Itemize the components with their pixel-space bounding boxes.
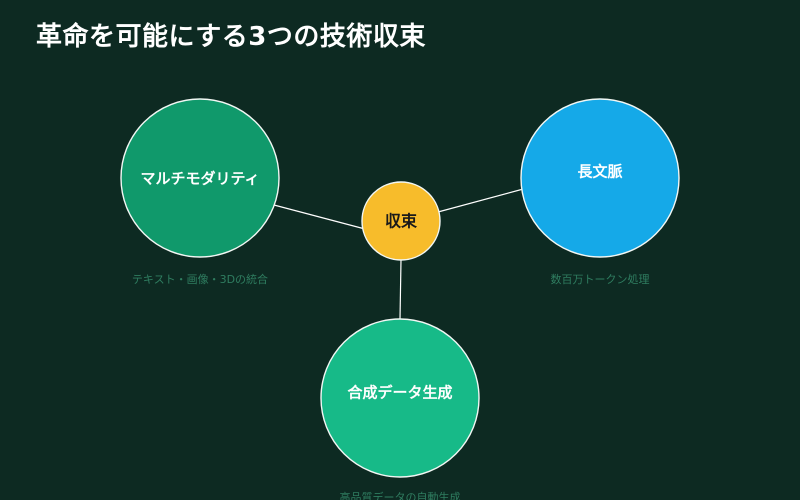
node-long-context[interactable]: 長文脈 数百万トークン処理 — [521, 99, 679, 286]
node-synthetic-data-label: 合成データ生成 — [346, 384, 452, 402]
edge-long-context-to-center — [438, 188, 527, 212]
node-center-convergence[interactable]: 収束 — [362, 182, 440, 260]
node-long-context-label: 長文脈 — [577, 163, 622, 181]
node-synthetic-data[interactable]: 合成データ生成 高品質データの自動生成 — [321, 319, 479, 500]
edge-synthetic-data-to-center — [400, 260, 401, 319]
node-multimodality-caption: テキスト・画像・3Dの統合 — [132, 272, 268, 286]
convergence-diagram: マルチモダリティ テキスト・画像・3Dの統合 長文脈 数百万トークン処理 合成デ… — [0, 0, 800, 500]
node-multimodality-label: マルチモダリティ — [140, 170, 259, 188]
node-synthetic-data-caption: 高品質データの自動生成 — [340, 490, 461, 500]
node-multimodality[interactable]: マルチモダリティ テキスト・画像・3Dの統合 — [121, 99, 279, 286]
node-center-label: 収束 — [385, 212, 418, 231]
slide-canvas: 革命を可能にする3つの技術収束 マルチモダリティ テキスト・画像・3Dの統合 長… — [0, 0, 800, 500]
edge-multimodality-to-center — [274, 205, 365, 229]
node-long-context-caption: 数百万トークン処理 — [551, 273, 650, 286]
